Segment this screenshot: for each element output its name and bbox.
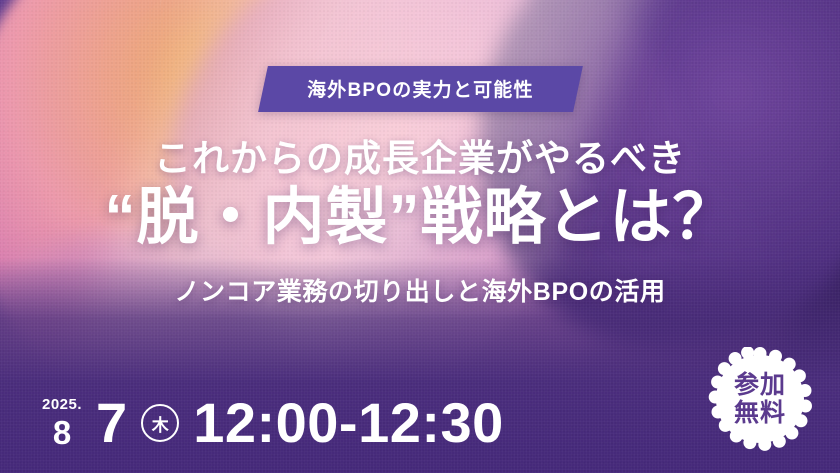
year-month-group: 2025. 8 [42,397,82,449]
webinar-poster: 海外BPOの実力と可能性 これからの成長企業がやるべき “脱・内製”戦略とは？ … [0,0,840,473]
headline-secondary: これからの成長企業がやるべき [0,128,840,182]
poster-content: 海外BPOの実力と可能性 これからの成長企業がやるべき “脱・内製”戦略とは？ … [0,0,840,473]
schedule-day: 7 [96,395,127,451]
schedule-day-of-week: 木 [141,404,179,442]
free-participation-badge: 参加 無料 [708,347,812,451]
subheadline: ノンコア業務の切り出しと海外BPOの活用 [0,272,840,308]
badge-label-line1: 参加 [734,371,786,399]
eyebrow-banner-wrap: 海外BPOの実力と可能性 [0,66,840,112]
schedule-bar: 2025. 8 7 木 12:00-12:30 [42,395,504,451]
schedule-year: 2025. [42,397,82,412]
schedule-time: 12:00-12:30 [193,395,504,451]
headline-primary: “脱・内製”戦略とは？ [0,183,840,252]
eyebrow-banner: 海外BPOの実力と可能性 [258,66,582,112]
badge-label: 参加 無料 [734,371,786,427]
badge-label-line2: 無料 [734,399,786,427]
schedule-month: 8 [53,416,71,449]
eyebrow-label: 海外BPOの実力と可能性 [307,75,534,102]
